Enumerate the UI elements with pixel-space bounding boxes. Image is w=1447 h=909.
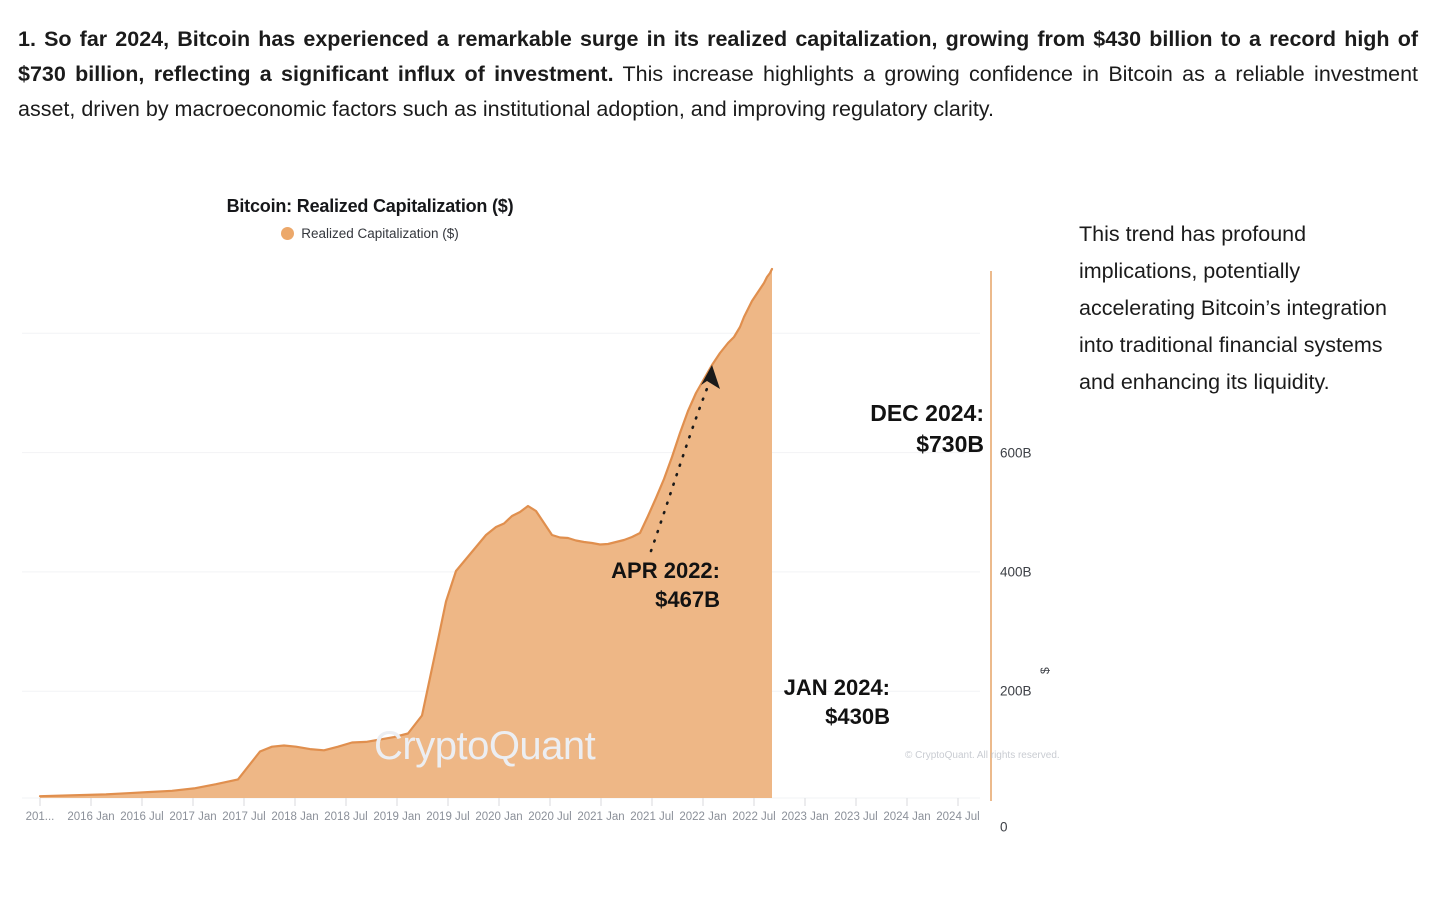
plot-area: CryptoQuant 201... 2016 Jan 2016 Jul 201… <box>22 261 978 909</box>
realized-cap-area-fill <box>40 269 772 798</box>
chart-legend: Realized Capitalization ($) <box>0 226 740 241</box>
legend-series-label: Realized Capitalization ($) <box>301 226 459 241</box>
x-tick-12: 2021 Jul <box>630 811 673 823</box>
cryptoquant-watermark: CryptoQuant <box>374 724 595 769</box>
annotation-jan-2024-line2: $430B <box>825 704 890 729</box>
chart-title: Bitcoin: Realized Capitalization ($) <box>0 196 740 217</box>
x-tick-7: 2019 Jan <box>373 811 420 823</box>
x-tick-0: 201... <box>26 811 55 823</box>
x-tick-13: 2022 Jan <box>679 811 726 823</box>
annotation-dec-2024-line2: $730B <box>916 431 984 457</box>
annotation-dec-2024-line1: DEC 2024: <box>870 400 984 426</box>
intro-paragraph: 1. So far 2024, Bitcoin has experienced … <box>18 22 1418 127</box>
x-tick-8: 2019 Jul <box>426 811 469 823</box>
x-tick-14: 2022 Jul <box>732 811 775 823</box>
chart-panel: Bitcoin: Realized Capitalization ($) Rea… <box>0 186 1060 760</box>
x-tick-3: 2017 Jan <box>169 811 216 823</box>
x-tick-16: 2023 Jul <box>834 811 877 823</box>
x-tick-17: 2024 Jan <box>883 811 930 823</box>
annotation-jan-2024: JAN 2024:$430B <box>700 673 890 732</box>
annotation-apr-2022-line2: $467B <box>655 587 720 612</box>
chart-credit: © CryptoQuant. All rights reserved. <box>905 750 1060 761</box>
x-tick-11: 2021 Jan <box>577 811 624 823</box>
x-axis-labels: 201... 2016 Jan 2016 Jul 2017 Jan 2017 J… <box>22 811 1007 833</box>
y-tick-2: 400B <box>1000 565 1032 580</box>
x-tick-15: 2023 Jan <box>781 811 828 823</box>
x-tick-4: 2017 Jul <box>222 811 265 823</box>
annotation-apr-2022-line1: APR 2022: <box>611 558 720 583</box>
x-tick-5: 2018 Jan <box>271 811 318 823</box>
y-tick-3: 600B <box>1000 446 1032 461</box>
x-tick-10: 2020 Jul <box>528 811 571 823</box>
annotation-dec-2024: DEC 2024:$730B <box>790 398 984 459</box>
x-tick-18: 2024 Jul <box>936 811 979 823</box>
y-tick-0: 0 <box>1000 820 1008 835</box>
x-tick-2: 2016 Jul <box>120 811 163 823</box>
x-tick-9: 2020 Jan <box>475 811 522 823</box>
x-axis-ticks <box>40 798 958 806</box>
x-tick-6: 2018 Jul <box>324 811 367 823</box>
annotation-jan-2024-line1: JAN 2024: <box>784 675 890 700</box>
y-tick-1: 200B <box>1000 684 1032 699</box>
annotation-apr-2022: APR 2022:$467B <box>520 556 720 615</box>
side-note: This trend has profound implications, po… <box>1079 216 1409 401</box>
y-axis-title: $ <box>1038 667 1052 674</box>
x-tick-1: 2016 Jan <box>67 811 114 823</box>
legend-color-dot <box>281 227 294 240</box>
